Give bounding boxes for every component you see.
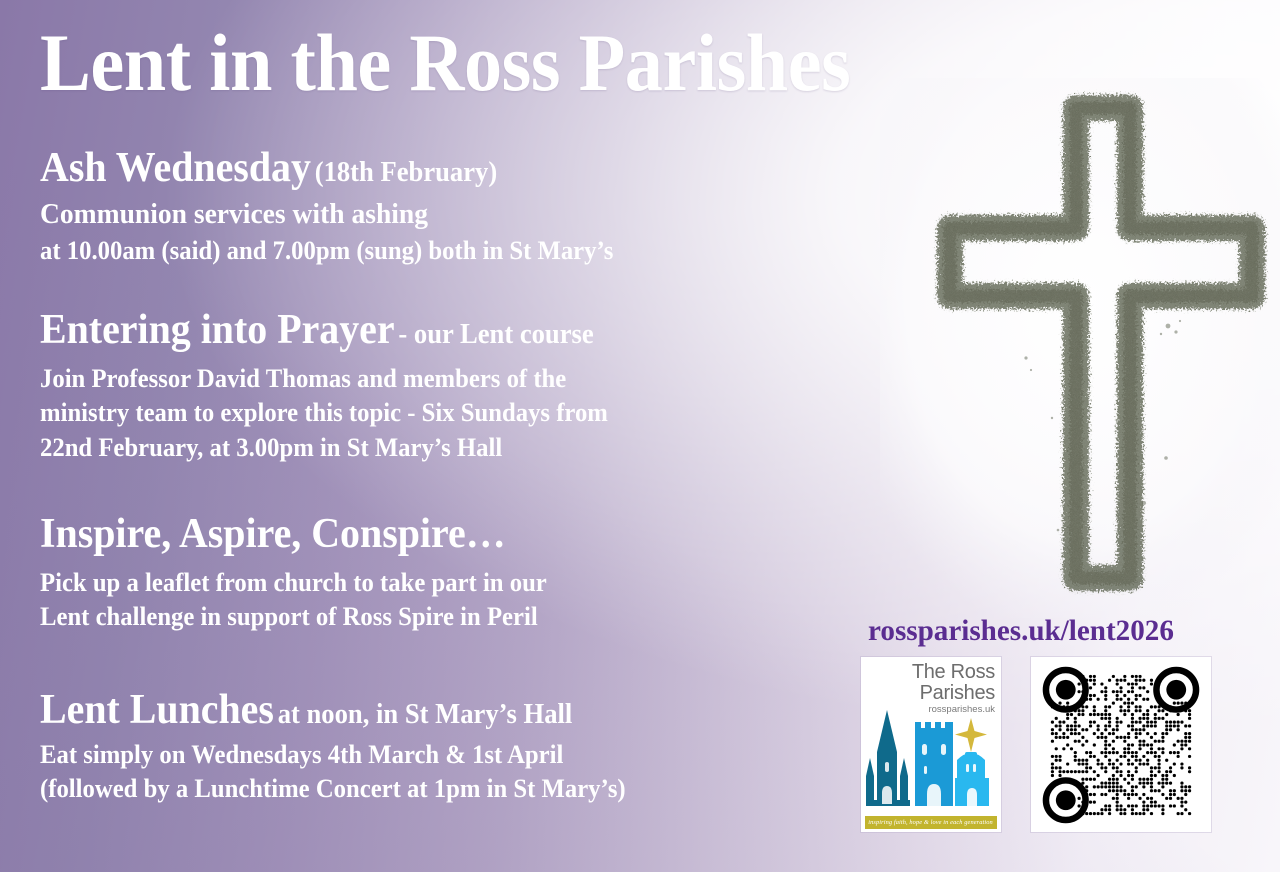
section-heading-main: Ash Wednesday	[40, 145, 311, 191]
ash-cross-image	[880, 78, 1280, 618]
section-heading-sub: at noon, in St Mary’s Hall	[278, 699, 573, 730]
logo-line-1: The Ross	[912, 662, 995, 683]
website-url[interactable]: rossparishes.uk/lent2026	[868, 614, 1174, 648]
logo-tagline: inspiring faith, hope & love in each gen…	[869, 819, 994, 826]
section-line: ministry team to explore this topic - Si…	[40, 396, 608, 430]
churches-illustration	[861, 700, 1001, 816]
section-line: at 10.00am (said) and 7.00pm (sung) both…	[40, 234, 613, 268]
section-inspire-aspire-conspire: Inspire, Aspire, Conspire… Pick up a lea…	[40, 512, 573, 635]
section-line: Join Professor David Thomas and members …	[40, 362, 608, 396]
section-ash-wednesday: Ash Wednesday (18th February) Communion …	[40, 146, 644, 268]
logo-tagline-banner: inspiring faith, hope & love in each gen…	[865, 816, 997, 829]
section-line: Lent challenge in support of Ross Spire …	[40, 600, 547, 634]
section-line: Eat simply on Wednesdays 4th March & 1st…	[40, 738, 626, 772]
section-heading: Lent Lunches at noon, in St Mary’s Hall	[40, 688, 626, 732]
poster-root: Lent in the Ross Parishes Ash Wednesday …	[0, 0, 1280, 872]
section-heading: Inspire, Aspire, Conspire…	[40, 512, 547, 556]
section-heading-main: Entering into Prayer	[40, 307, 395, 353]
section-heading: Ash Wednesday (18th February)	[40, 146, 613, 190]
section-line: (followed by a Lunchtime Concert at 1pm …	[40, 772, 626, 806]
star-icon	[955, 718, 987, 752]
poster-title: Lent in the Ross Parishes	[40, 22, 850, 104]
section-line: Communion services with ashing	[40, 196, 613, 234]
section-heading-sub: (18th February)	[315, 157, 497, 188]
ross-parishes-logo[interactable]: The Ross Parishes rossparishes.uk	[861, 657, 1001, 832]
section-line: 22nd February, at 3.00pm in St Mary’s Ha…	[40, 431, 608, 465]
qr-code-icon	[1041, 665, 1201, 825]
section-heading-sub: - our Lent course	[398, 319, 593, 350]
section-entering-into-prayer: Entering into Prayer - our Lent course J…	[40, 308, 638, 465]
section-line: Pick up a leaflet from church to take pa…	[40, 566, 547, 600]
section-heading-main: Inspire, Aspire, Conspire…	[40, 511, 506, 557]
section-lent-lunches: Lent Lunches at noon, in St Mary’s Hall …	[40, 688, 656, 807]
section-heading: Entering into Prayer - our Lent course	[40, 308, 608, 352]
section-heading-main: Lent Lunches	[40, 687, 274, 733]
qr-code-card[interactable]	[1031, 657, 1211, 832]
